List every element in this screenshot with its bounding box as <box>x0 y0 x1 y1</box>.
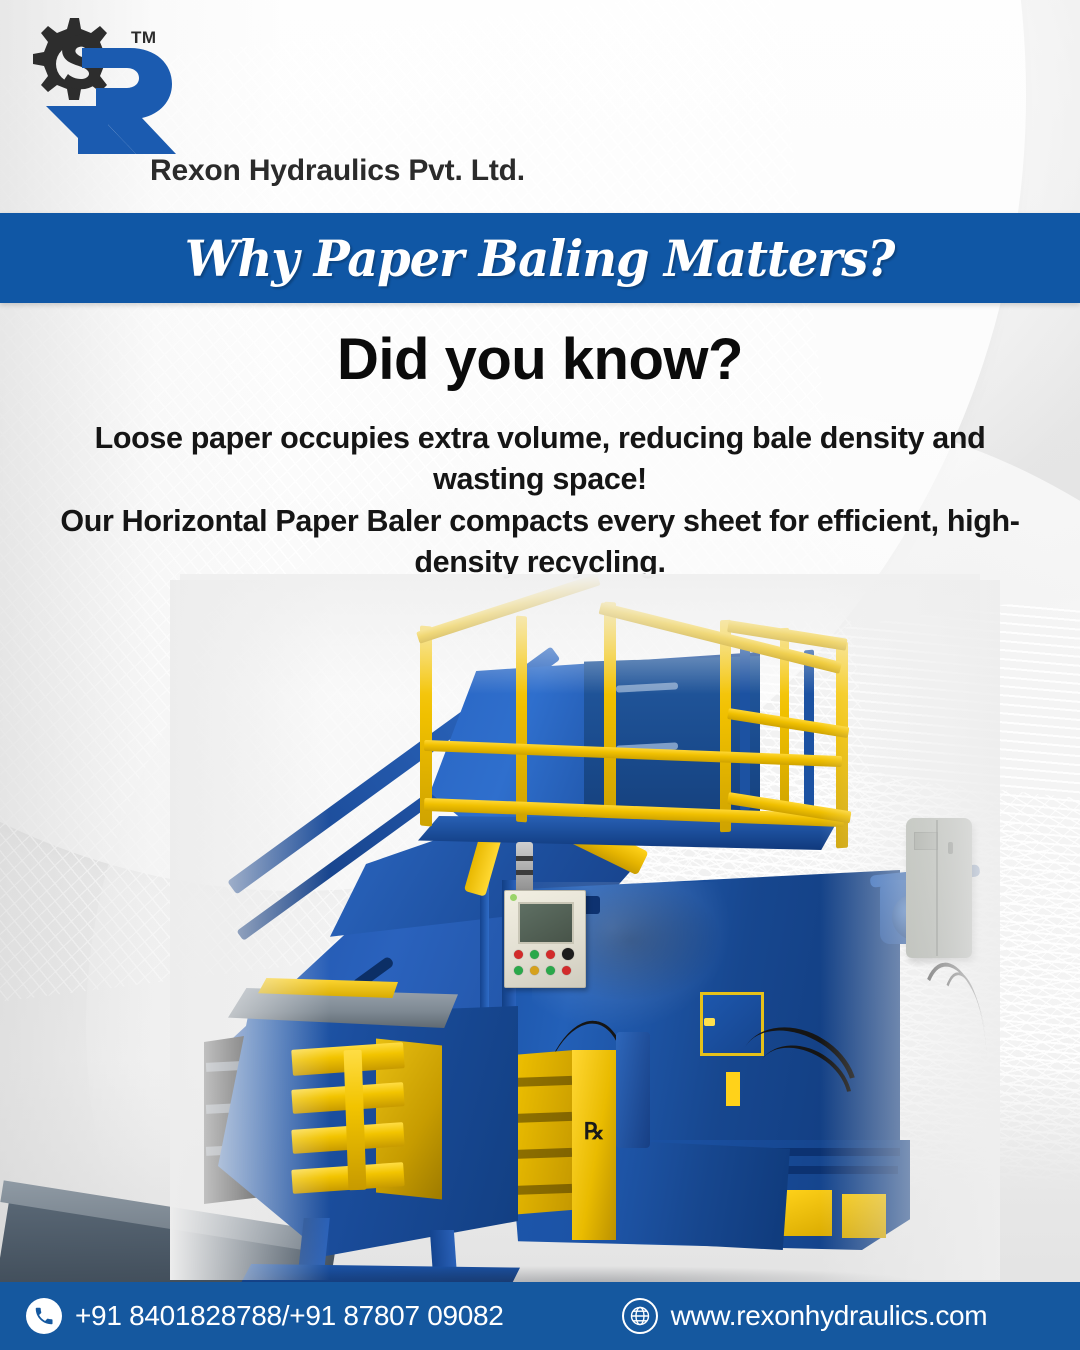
control-button-5 <box>514 966 523 975</box>
photo-fade-right <box>820 580 1000 1280</box>
poster-canvas: TM Rexon Hydraulics Pvt. Ltd. Why Paper … <box>0 0 1080 1350</box>
control-button-3 <box>546 950 555 959</box>
control-panel-indicator-lamp <box>510 894 517 901</box>
body-paragraph-2: Our Horizontal Paper Baler compacts ever… <box>36 501 1044 584</box>
footer-bar: +91 8401828788/+91 87807 09082 www.rexon… <box>0 1282 1080 1350</box>
emergency-stop-button <box>562 948 574 960</box>
press-door-latch <box>704 1018 715 1026</box>
page-headline: Did you know? <box>0 326 1080 393</box>
signal-tower-band-1 <box>516 856 533 861</box>
phone-icon <box>26 1298 62 1334</box>
company-name: Rexon Hydraulics Pvt. Ltd. <box>150 154 525 188</box>
title-banner: Why Paper Baling Matters? <box>0 213 1080 303</box>
trademark-symbol: TM <box>131 28 157 48</box>
product-photo: ℞ <box>180 580 980 1280</box>
footer-website-block[interactable]: www.rexonhydraulics.com <box>622 1298 988 1334</box>
body-copy: Loose paper occupies extra volume, reduc… <box>36 418 1044 584</box>
globe-icon <box>622 1298 658 1334</box>
banner-title: Why Paper Baling Matters? <box>185 229 894 288</box>
control-button-8 <box>562 966 571 975</box>
footer-website-text: www.rexonhydraulics.com <box>671 1300 988 1332</box>
signal-tower-band-2 <box>516 870 533 875</box>
control-button-6 <box>530 966 539 975</box>
control-panel-display <box>518 902 574 944</box>
control-button-1 <box>514 950 523 959</box>
press-yellow-marker <box>726 1072 740 1106</box>
control-button-2 <box>530 950 539 959</box>
bale-chamber <box>610 1140 790 1250</box>
header: TM Rexon Hydraulics Pvt. Ltd. <box>0 0 1080 213</box>
footer-phone-text: +91 8401828788/+91 87807 09082 <box>75 1300 504 1332</box>
body-paragraph-1: Loose paper occupies extra volume, reduc… <box>36 418 1044 501</box>
photo-fade-left <box>170 580 330 1280</box>
footer-phone-block[interactable]: +91 8401828788/+91 87807 09082 <box>26 1298 504 1334</box>
signal-tower-light <box>516 842 533 894</box>
control-button-7 <box>546 966 555 975</box>
column-logo-mark: ℞ <box>580 1116 608 1146</box>
baler-illustration: ℞ <box>180 580 980 1280</box>
press-ram-cylinder <box>616 1032 650 1148</box>
